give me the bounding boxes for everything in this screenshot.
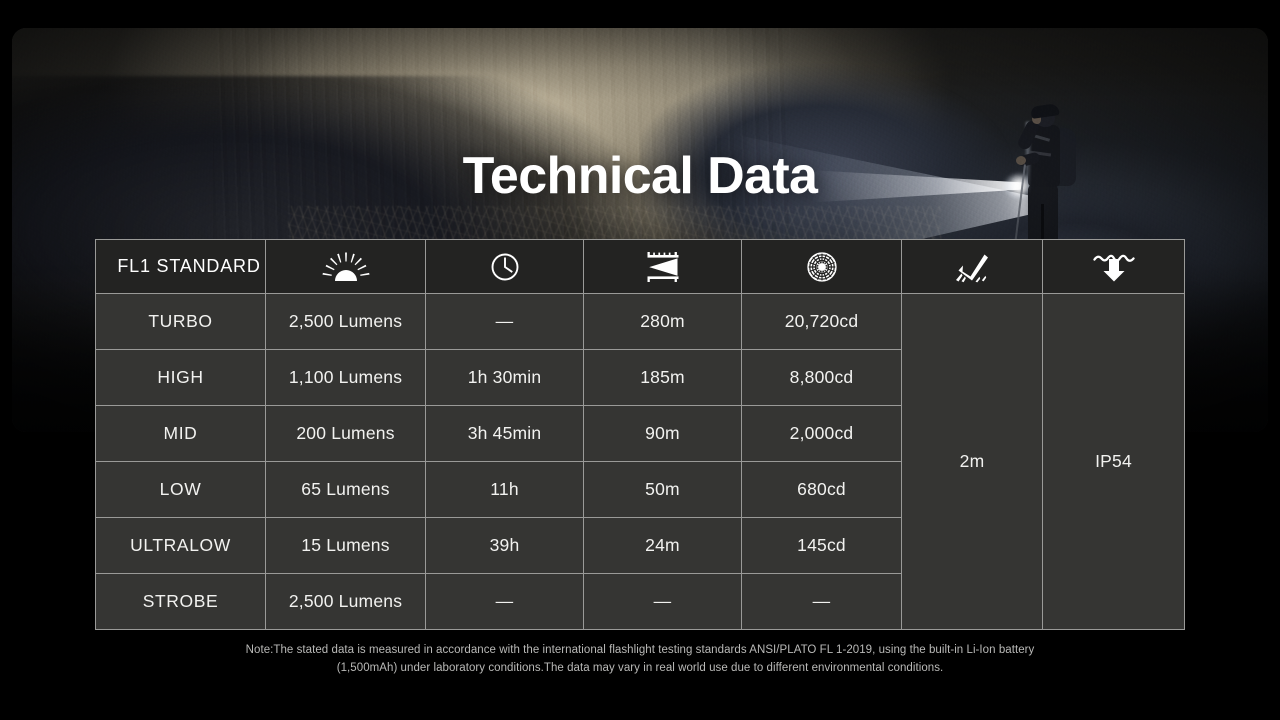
cell-distance: — [584,574,742,630]
cell-mode: MID [96,406,266,462]
cell-runtime: — [426,574,584,630]
cell-mode: ULTRALOW [96,518,266,574]
cell-lumens: 200 Lumens [266,406,426,462]
cell-water-resistance: IP54 [1043,294,1185,630]
cell-mode: HIGH [96,350,266,406]
header-cell-beam-distance [584,240,742,294]
cell-mode: LOW [96,462,266,518]
technical-data-table: FL1 STANDARD [95,239,1185,630]
water-resistance-icon [1043,240,1184,293]
table-row: TURBO 2,500 Lumens — 280m 20,720cd 2m IP… [96,294,1185,350]
cell-distance: 280m [584,294,742,350]
cell-runtime: 39h [426,518,584,574]
table-header-row: FL1 STANDARD [96,240,1185,294]
header-cell-peak-intensity [742,240,902,294]
cell-runtime: 3h 45min [426,406,584,462]
cell-intensity: 20,720cd [742,294,902,350]
cell-distance: 24m [584,518,742,574]
header-cell-lumens [266,240,426,294]
footnote-line-2: (1,500mAh) under laboratory conditions.T… [190,659,1090,677]
peak-beam-intensity-icon [742,240,901,293]
page-title: Technical Data [0,146,1280,206]
cell-intensity: 8,800cd [742,350,902,406]
cell-lumens: 1,100 Lumens [266,350,426,406]
slide-root: Technical Data FL1 STANDARD [0,0,1280,720]
header-cell-runtime [426,240,584,294]
cell-mode: STROBE [96,574,266,630]
cell-runtime: — [426,294,584,350]
cell-intensity: 145cd [742,518,902,574]
table-body: TURBO 2,500 Lumens — 280m 20,720cd 2m IP… [96,294,1185,630]
lumens-sun-icon [266,240,425,293]
cell-intensity: — [742,574,902,630]
cell-distance: 90m [584,406,742,462]
header-cell-impact-resistance [902,240,1043,294]
impact-resistance-icon [902,240,1042,293]
cell-lumens: 2,500 Lumens [266,574,426,630]
cell-lumens: 15 Lumens [266,518,426,574]
beam-distance-ruler-icon [584,240,741,293]
cell-impact-resistance: 2m [902,294,1043,630]
table-header: FL1 STANDARD [96,240,1185,294]
cell-runtime: 1h 30min [426,350,584,406]
header-fl1-standard: FL1 STANDARD [96,240,266,294]
cell-lumens: 2,500 Lumens [266,294,426,350]
cell-mode: TURBO [96,294,266,350]
cell-distance: 185m [584,350,742,406]
cell-lumens: 65 Lumens [266,462,426,518]
footnote: Note:The stated data is measured in acco… [190,641,1090,677]
header-cell-water-resistance [1043,240,1185,294]
footnote-line-1: Note:The stated data is measured in acco… [190,641,1090,659]
cell-intensity: 680cd [742,462,902,518]
cell-distance: 50m [584,462,742,518]
cell-intensity: 2,000cd [742,406,902,462]
cell-runtime: 11h [426,462,584,518]
runtime-clock-icon [426,240,583,293]
